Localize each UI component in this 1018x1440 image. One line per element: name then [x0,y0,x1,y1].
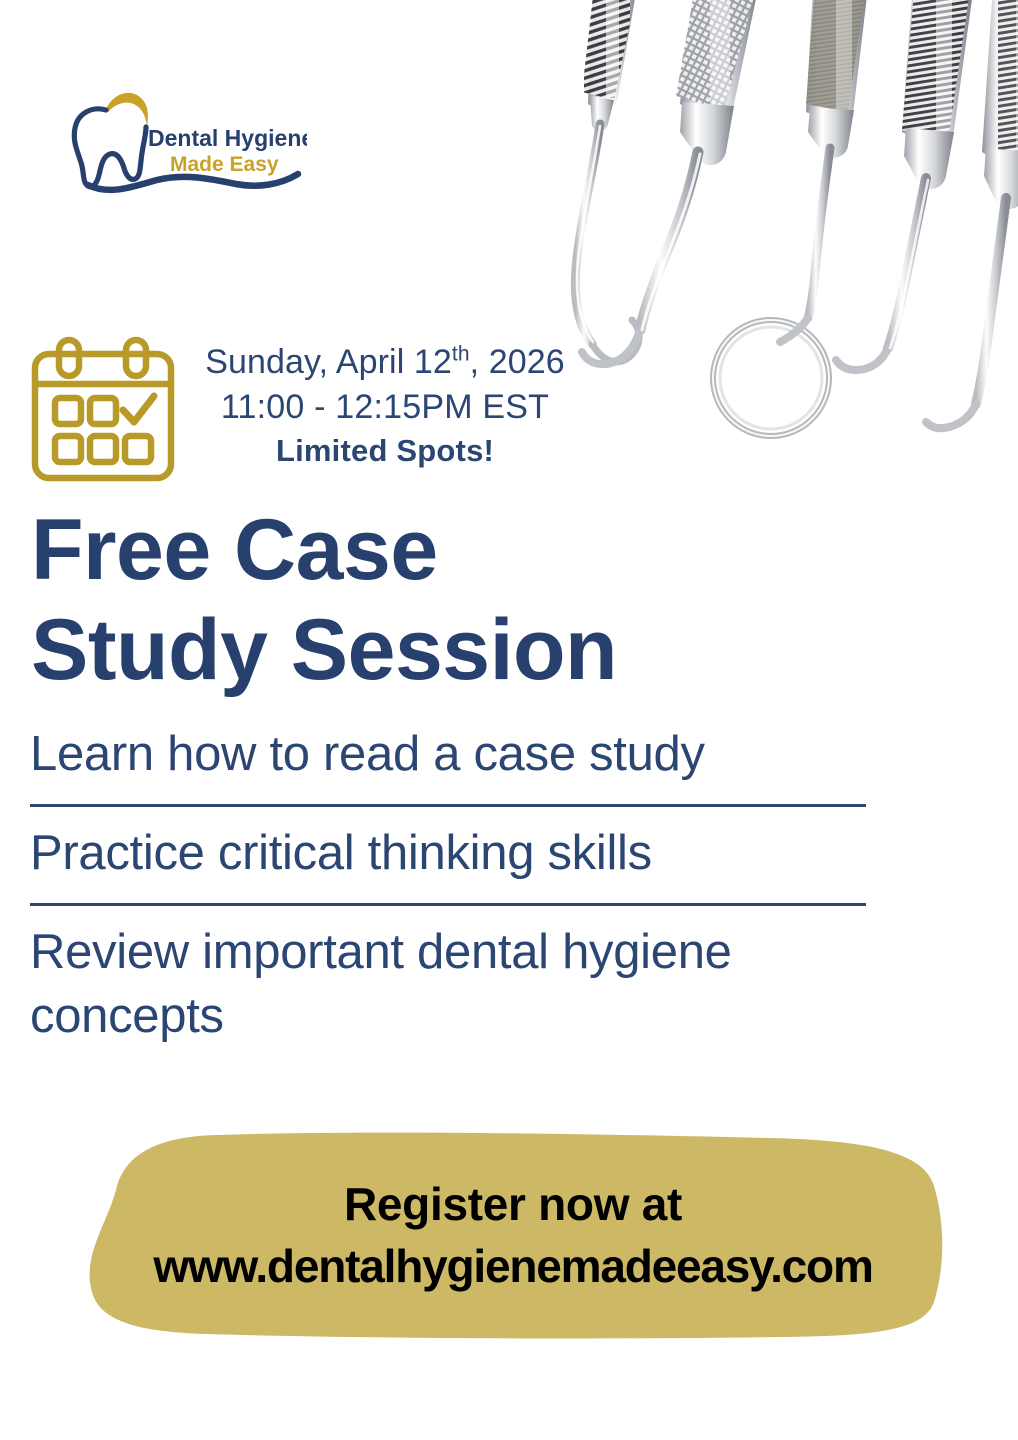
cta-line-1: Register now at [344,1173,682,1235]
event-date-text: Sunday, April 12th, 2026 11:00 - 12:15PM… [176,334,590,472]
event-time: 11:00 - 12:15PM EST [180,384,590,430]
dental-instruments-photo [548,0,1018,460]
flyer-page: Dental Hygiene Made Easy [0,0,1018,1440]
calendar-check-icon [30,336,176,484]
list-item: Review important dental hygiene concepts [30,920,890,1054]
event-date-line: Sunday, April 12th, 2026 [180,340,590,384]
event-date-prefix: Sunday, April 12 [205,343,452,381]
logo-gold-accent [106,93,148,126]
event-availability-note: Limited Spots! [180,430,590,472]
logo-line-2: Made Easy [170,153,279,176]
instrument-ribbed-probe [836,0,982,370]
logo-tooth-outline [74,109,146,187]
page-title: Free Case Study Session [31,500,931,700]
page-title-line-1: Free Case [31,500,931,600]
register-cta-button[interactable]: Register now at www.dentalhygienemadeeas… [78,1130,948,1340]
instrument-knurled-explorer [582,0,766,364]
benefits-divider [30,903,866,906]
logo-wave-underline [88,174,298,190]
logo-line-1: Dental Hygiene [148,125,307,151]
instrument-right-probe [926,0,1018,428]
list-item: Practice critical thinking skills [30,821,890,891]
benefits-list: Learn how to read a case study Practice … [30,722,890,1054]
event-date-suffix: , 2026 [470,343,565,381]
page-title-line-2: Study Session [31,600,931,700]
benefits-divider [30,804,866,807]
dental-hygiene-made-easy-logo[interactable]: Dental Hygiene Made Easy [62,86,307,194]
instrument-mouth-mirror [713,0,876,436]
cta-text-wrapper: Register now at www.dentalhygienemadeeas… [78,1130,948,1340]
instrument-sickle-scaler [575,0,640,362]
event-date-ordinal: th [452,343,470,366]
event-date-block: Sunday, April 12th, 2026 11:00 - 12:15PM… [30,334,590,484]
cta-website-url[interactable]: www.dentalhygienemadeeasy.com [153,1235,872,1297]
list-item: Learn how to read a case study [30,722,890,792]
